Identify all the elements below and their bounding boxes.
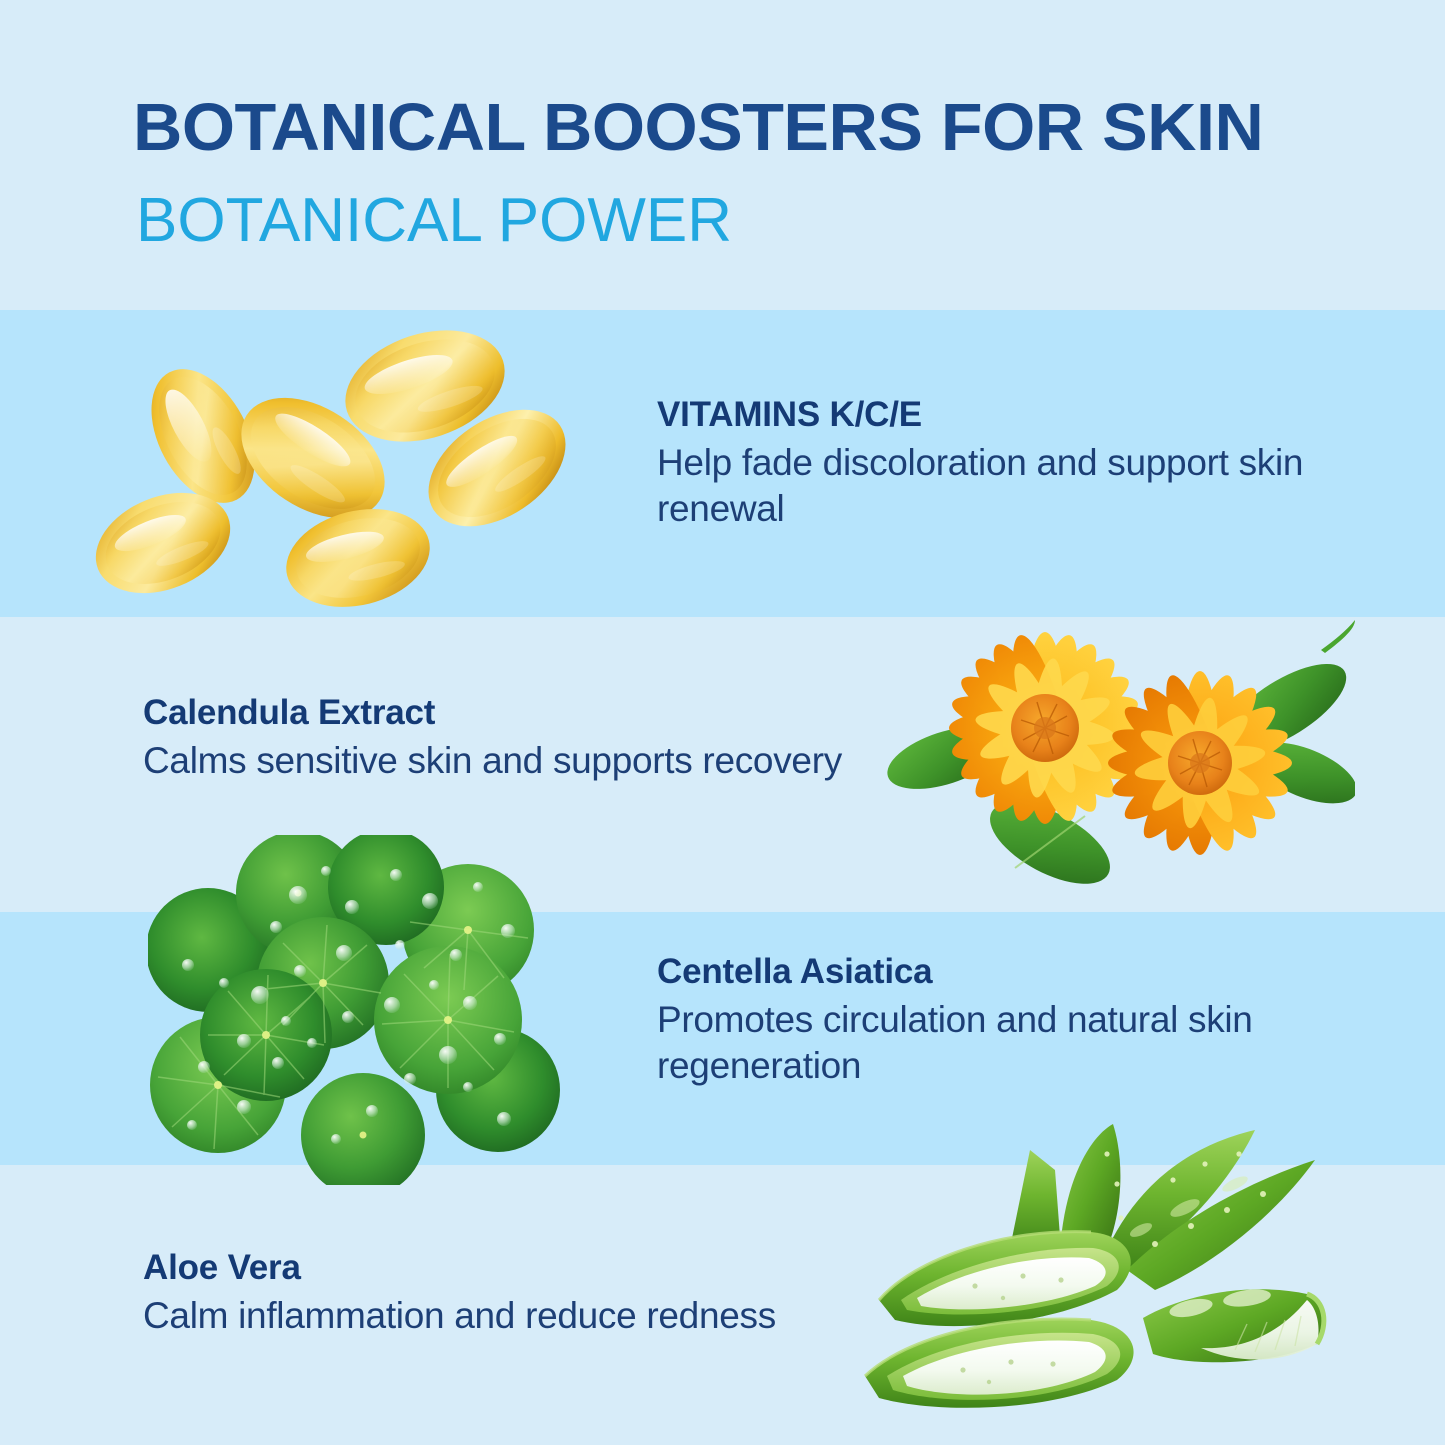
centella-leaf <box>301 1073 425 1185</box>
calendula-flowers-image <box>885 558 1355 903</box>
aloe-heading: Aloe Vera <box>143 1248 903 1287</box>
aloe-slab <box>1143 1287 1324 1363</box>
aloe-description: Calm inflammation and reduce redness <box>143 1293 903 1339</box>
centella-description: Promotes circulation and natural skin re… <box>657 997 1277 1089</box>
vitamins-text-block: VITAMINS K/C/E Help fade discoloration a… <box>657 395 1317 532</box>
aloe-vera-image <box>855 1118 1355 1428</box>
aloe-text-block: Aloe Vera Calm inflammation and reduce r… <box>143 1248 903 1339</box>
capsule <box>276 495 440 608</box>
aloe-slice <box>879 1232 1131 1326</box>
centella-text-block: Centella Asiatica Promotes circulation a… <box>657 952 1277 1089</box>
page-title: BOTANICAL BOOSTERS FOR SKIN <box>133 94 1263 161</box>
page-subtitle: BOTANICAL POWER <box>136 190 732 252</box>
aloe-slice <box>865 1319 1134 1408</box>
vitamins-heading: VITAMINS K/C/E <box>657 395 1317 434</box>
centella-heading: Centella Asiatica <box>657 952 1277 991</box>
calendula-description: Calms sensitive skin and supports recove… <box>143 738 943 784</box>
centella-leaves-image <box>148 835 578 1185</box>
infographic-poster: BOTANICAL BOOSTERS FOR SKIN BOTANICAL PO… <box>0 0 1445 1445</box>
calendula-flower <box>947 630 1143 826</box>
calendula-heading: Calendula Extract <box>143 693 943 732</box>
header: BOTANICAL BOOSTERS FOR SKIN BOTANICAL PO… <box>0 0 1445 310</box>
vitamins-description: Help fade discoloration and support skin… <box>657 440 1317 532</box>
softgel-capsules-image <box>85 308 605 608</box>
calendula-text-block: Calendula Extract Calms sensitive skin a… <box>143 693 943 784</box>
